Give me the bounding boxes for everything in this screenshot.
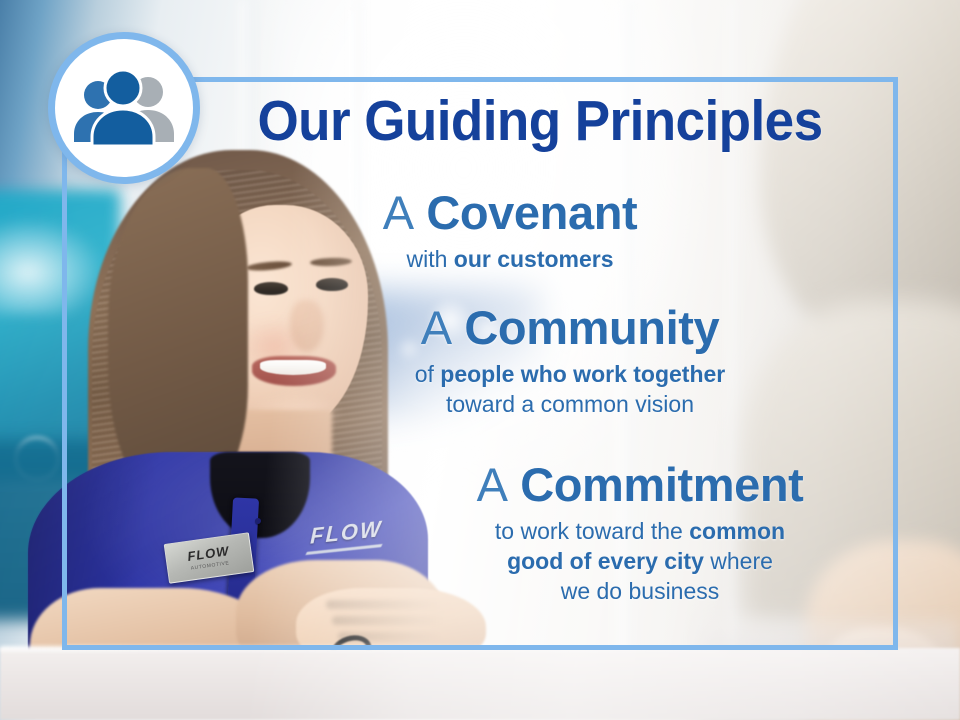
employee-eye-left: [254, 282, 288, 295]
principle-block-community: A Community of people who work togethert…: [360, 303, 780, 420]
principle-subtext-community: of people who work togethertoward a comm…: [360, 360, 780, 420]
desk-surface: [0, 648, 960, 720]
employee-finger: [332, 616, 444, 625]
poster-canvas: FLOW FLOW AUTOMOTIVE: [0, 0, 960, 720]
principle-subtext-commitment: to work toward the commongood of every c…: [420, 517, 860, 607]
principle-block-covenant: A Covenant with our customers: [300, 188, 720, 275]
principle-subtext-covenant: with our customers: [300, 245, 720, 275]
principle-article: A: [383, 186, 414, 239]
principle-block-commitment: A Commitment to work toward the commongo…: [420, 460, 860, 606]
principle-keyword: Covenant: [426, 186, 637, 239]
employee-eye-right: [316, 278, 348, 291]
principle-keyword: Community: [464, 301, 719, 354]
principle-headline-covenant: A Covenant: [300, 188, 720, 238]
desk-edge-highlight: [0, 646, 720, 651]
employee-nose: [290, 300, 324, 352]
principle-article: A: [421, 301, 452, 354]
principle-keyword: Commitment: [520, 458, 803, 511]
employee-hair-front: [108, 168, 248, 498]
principle-article: A: [477, 458, 508, 511]
people-group-icon: [48, 32, 200, 184]
polo-button: [255, 518, 261, 524]
principle-headline-community: A Community: [360, 303, 780, 353]
principle-headline-commitment: A Commitment: [420, 460, 860, 510]
employee-teeth: [260, 360, 326, 375]
page-title: Our Guiding Principles: [233, 92, 847, 150]
